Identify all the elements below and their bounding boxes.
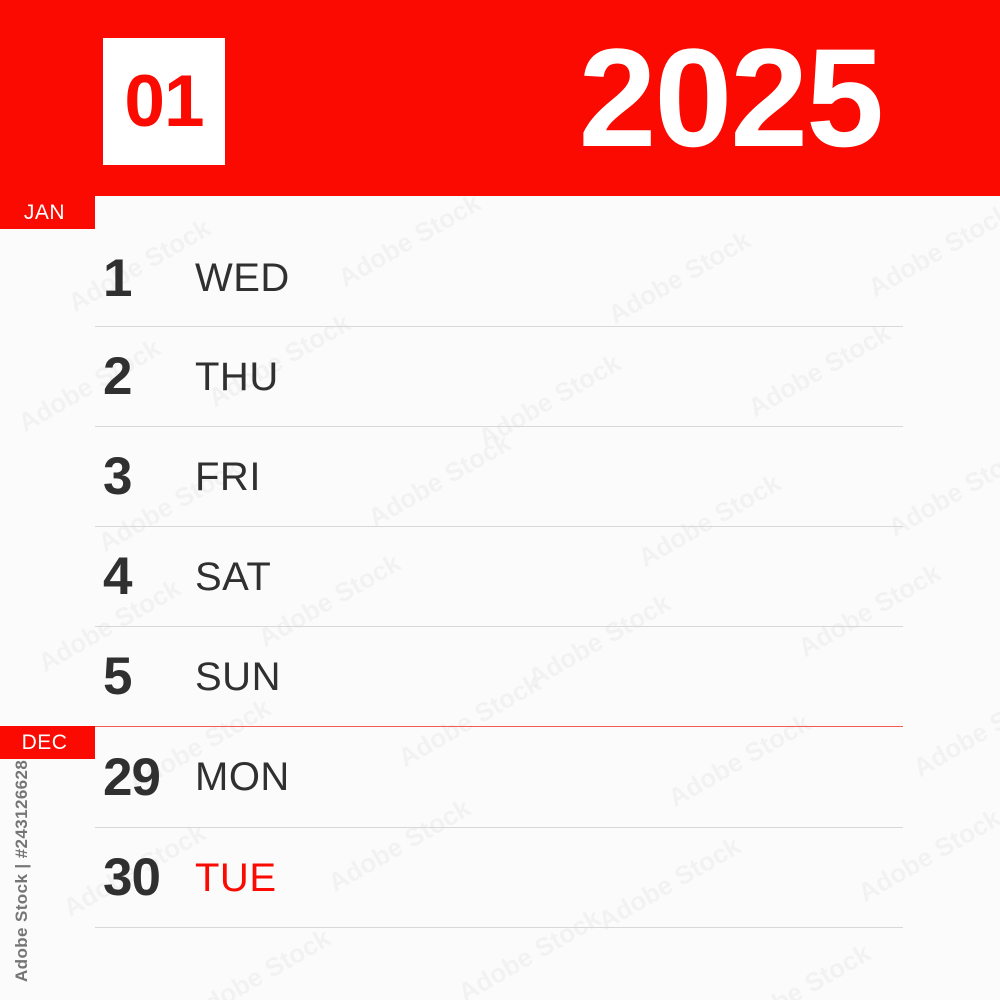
watermark-tile: Adobe Stock (183, 922, 336, 1000)
day-weekday: MON (195, 757, 290, 797)
day-row[interactable]: 29 MON (95, 727, 903, 828)
day-row[interactable]: 30 TUE (95, 828, 903, 928)
day-weekday: WED (195, 258, 290, 298)
day-number: 30 (95, 851, 185, 904)
day-weekday: FRI (195, 457, 261, 497)
day-list: 1 WED 2 THU 3 FRI 4 SAT 5 SUN 29 MON 30 … (95, 230, 903, 928)
day-number: 2 (95, 350, 185, 403)
day-number: 4 (95, 550, 185, 603)
month-tab-jan[interactable]: JAN (0, 196, 95, 229)
day-row[interactable]: 4 SAT (95, 527, 903, 627)
day-row[interactable]: 1 WED (95, 230, 903, 327)
calendar-header: 01 2025 (0, 0, 1000, 196)
day-number: 3 (95, 450, 185, 503)
day-number: 5 (95, 650, 185, 703)
day-badge-number: 01 (124, 65, 203, 138)
day-badge: 01 (103, 38, 225, 165)
day-row[interactable]: 5 SUN (95, 627, 903, 727)
month-tab-dec[interactable]: DEC (0, 726, 95, 759)
watermark-tile: Adobe Stock (908, 677, 1000, 783)
stock-watermark-text: Adobe Stock | #243126628 (12, 760, 32, 982)
day-row[interactable]: 2 THU (95, 327, 903, 427)
watermark-tile: Adobe Stock (723, 937, 876, 1000)
year-label: 2025 (579, 28, 882, 168)
day-weekday: THU (195, 357, 279, 397)
day-weekday: SAT (195, 557, 271, 597)
calendar-page: Adobe Stock Adobe Stock Adobe Stock Adob… (0, 0, 1000, 1000)
day-weekday: SUN (195, 657, 281, 697)
day-row[interactable]: 3 FRI (95, 427, 903, 527)
day-number: 1 (95, 252, 185, 305)
day-weekday: TUE (195, 858, 277, 898)
day-number: 29 (95, 751, 185, 804)
